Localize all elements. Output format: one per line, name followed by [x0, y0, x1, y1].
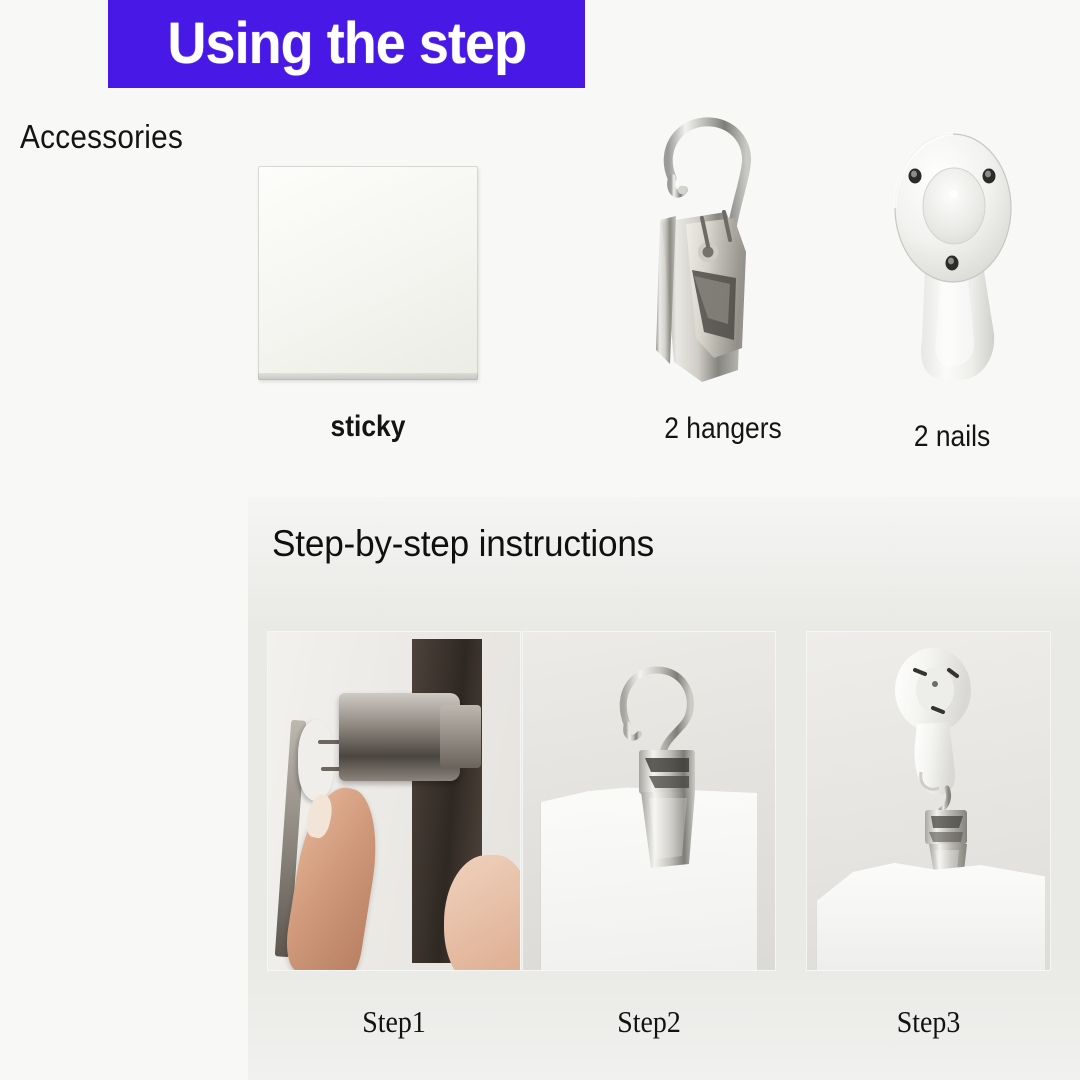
- white-wall-hook-icon: [868, 128, 1038, 393]
- accessory-caption-nails: 2 nails: [873, 420, 1031, 454]
- metal-clip-hanger-icon: [630, 100, 810, 390]
- adhesive-pad-icon: [258, 166, 478, 380]
- step3-photo: [807, 632, 1050, 970]
- step-photo-row: [268, 632, 1050, 970]
- infographic-page: Using the step Accessories sticky: [0, 0, 1080, 1080]
- step2-caption: Step2: [536, 1004, 763, 1040]
- page-title: Using the step: [167, 15, 526, 73]
- step2-photo: [523, 632, 775, 970]
- instructions-heading: Step-by-step instructions: [272, 523, 654, 565]
- step1-hammer: [339, 693, 460, 781]
- accessory-caption-hangers: 2 hangers: [631, 412, 816, 446]
- step2-clip-hanger: [523, 632, 775, 970]
- step1-photo: [268, 632, 520, 970]
- accessories-section-label: Accessories: [20, 118, 183, 156]
- step1-caption: Step1: [281, 1004, 508, 1040]
- step3-towel: [817, 858, 1045, 970]
- title-banner: Using the step: [108, 0, 585, 88]
- step1-wall-hook: [298, 720, 333, 801]
- instructions-panel: Step-by-step instructions: [248, 497, 1080, 1080]
- accessory-caption-sticky: sticky: [271, 410, 465, 444]
- step3-caption: Step3: [819, 1004, 1038, 1040]
